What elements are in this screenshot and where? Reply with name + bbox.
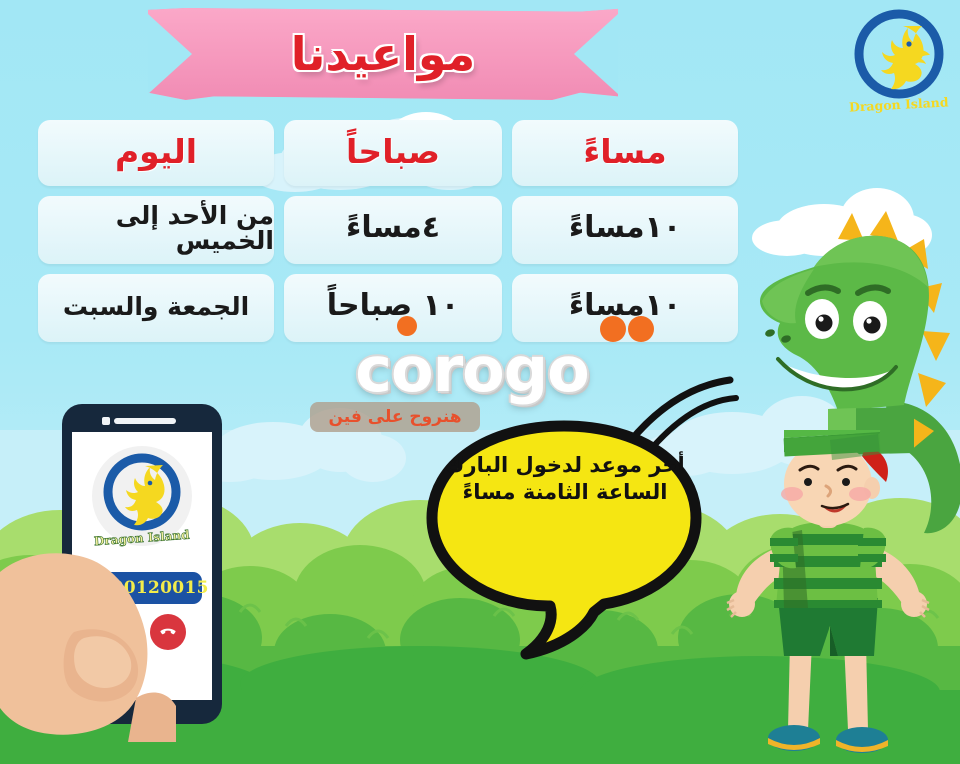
morning-value-0: ٤مساءً <box>346 213 440 247</box>
evening-value-0: ١٠مساءً <box>569 213 681 247</box>
orange-dot-decoration <box>397 316 417 336</box>
dragon-island-logo: Dragon Island <box>845 6 953 118</box>
header-cell-evening: مساءً <box>512 120 738 186</box>
orange-dot-decoration <box>600 316 626 342</box>
phone-mockup: Dragon Island 01200120015 <box>62 404 222 734</box>
header-evening-label: مساءً <box>583 135 666 172</box>
cell-evening-0: ١٠مساءً <box>512 196 738 264</box>
notice-text: أخر موعد لدخول البارك الساعة الثامنة مسا… <box>436 452 694 506</box>
phone-camera-icon <box>102 417 110 425</box>
cell-day-0: من الأحد إلى الخميس <box>38 196 274 264</box>
title-ribbon: مواعيدنا <box>148 8 618 113</box>
notice-line-1: أخر موعد لدخول البارك <box>436 452 694 479</box>
header-cell-day: اليوم <box>38 120 274 186</box>
header-cell-morning: صباحاً <box>284 120 502 186</box>
cartoon-boy <box>726 430 936 764</box>
header-morning-label: صباحاً <box>346 135 440 172</box>
orange-dot-decoration <box>628 316 654 342</box>
dragon-head-icon: Dragon Island <box>845 6 953 118</box>
evening-value-1: ١٠مساءً <box>569 291 681 325</box>
day-value-0: من الأحد إلى الخميس <box>38 203 274 257</box>
cell-day-1: الجمعة والسبت <box>38 274 274 342</box>
day-value-1: الجمعة والسبت <box>63 294 249 323</box>
page-title: مواعيدنا <box>148 8 618 100</box>
cell-morning-1: ١٠ صباحاً <box>284 274 502 342</box>
notice-line-2: الساعة الثامنة مساءً <box>436 479 694 506</box>
halftone-dots <box>330 710 600 764</box>
speech-bubble-shape <box>398 400 728 660</box>
hand-holding-phone <box>0 512 220 742</box>
header-day-label: اليوم <box>115 135 197 172</box>
notice-speech-bubble: أخر موعد لدخول البارك الساعة الثامنة مسا… <box>398 400 728 660</box>
cell-morning-0: ٤مساءً <box>284 196 502 264</box>
morning-value-1: ١٠ صباحاً <box>327 291 459 325</box>
schedule-row: من الأحد إلى الخميس ٤مساءً ١٠مساءً <box>38 196 738 264</box>
poster-root: مواعيدنا Dragon Island اليوم صباحاً مساء… <box>0 0 960 764</box>
phone-speaker <box>114 418 176 424</box>
schedule-header-row: اليوم صباحاً مساءً <box>38 120 738 186</box>
